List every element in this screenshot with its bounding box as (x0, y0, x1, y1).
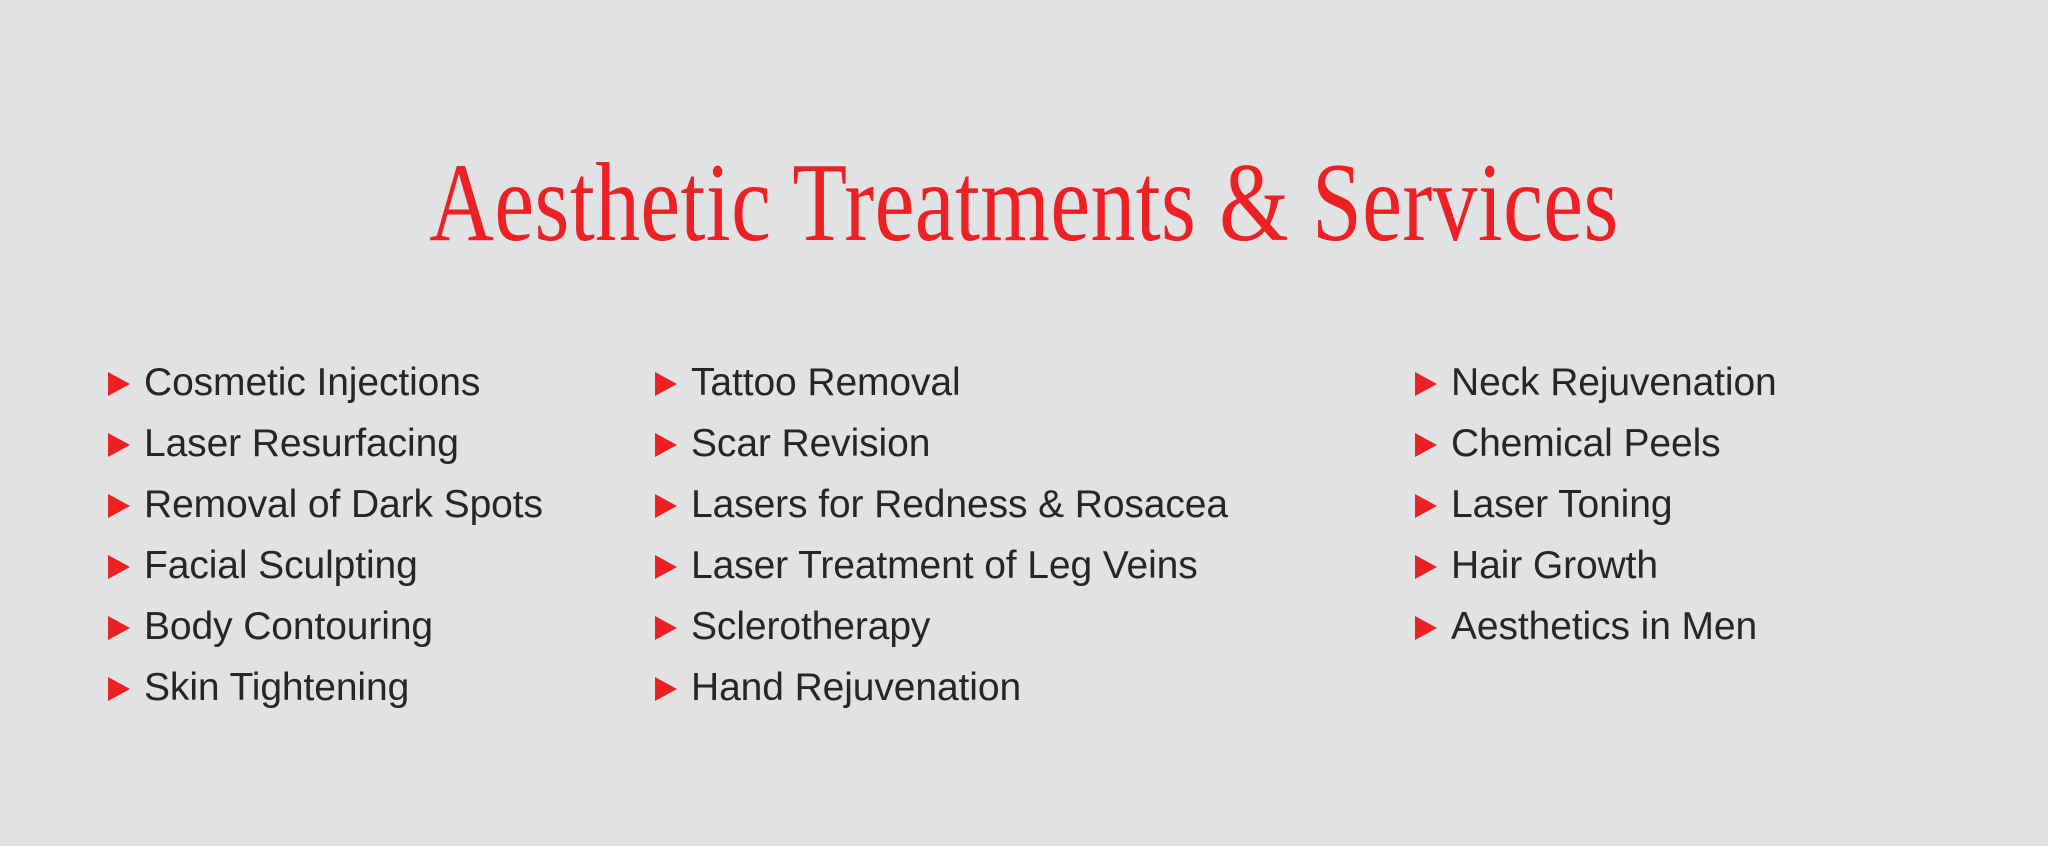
list-item[interactable]: Facial Sculpting (108, 535, 650, 596)
list-item[interactable]: Hair Growth (1415, 535, 2048, 596)
services-column-2: Tattoo Removal Scar Revision Lasers for … (650, 352, 1415, 718)
triangle-right-icon (655, 371, 677, 397)
list-item[interactable]: Removal of Dark Spots (108, 474, 650, 535)
list-item-label: Removal of Dark Spots (144, 485, 543, 524)
list-item-label: Tattoo Removal (691, 363, 961, 402)
list-item[interactable]: Laser Resurfacing (108, 413, 650, 474)
list-item[interactable]: Cosmetic Injections (108, 352, 650, 413)
list-item-label: Aesthetics in Men (1451, 607, 1757, 646)
services-columns: Cosmetic Injections Laser Resurfacing Re… (0, 352, 2048, 718)
triangle-right-icon (108, 554, 130, 580)
slide-root: Aesthetic Treatments & Services Cosmetic… (0, 0, 2048, 846)
list-item-label: Hand Rejuvenation (691, 668, 1021, 707)
services-column-1: Cosmetic Injections Laser Resurfacing Re… (0, 352, 650, 718)
triangle-right-icon (1415, 371, 1437, 397)
list-item[interactable]: Aesthetics in Men (1415, 596, 2048, 657)
triangle-right-icon (655, 615, 677, 641)
list-item[interactable]: Skin Tightening (108, 657, 650, 718)
list-item[interactable]: Laser Treatment of Leg Veins (655, 535, 1415, 596)
list-item-label: Cosmetic Injections (144, 363, 480, 402)
list-item-label: Laser Resurfacing (144, 424, 459, 463)
list-item[interactable]: Body Contouring (108, 596, 650, 657)
triangle-right-icon (655, 676, 677, 702)
triangle-right-icon (655, 493, 677, 519)
services-list-3: Neck Rejuvenation Chemical Peels Laser T… (1415, 352, 2048, 657)
list-item[interactable]: Tattoo Removal (655, 352, 1415, 413)
list-item-label: Hair Growth (1451, 546, 1658, 585)
list-item[interactable]: Lasers for Redness & Rosacea (655, 474, 1415, 535)
triangle-right-icon (108, 493, 130, 519)
triangle-right-icon (108, 371, 130, 397)
triangle-right-icon (1415, 615, 1437, 641)
triangle-right-icon (108, 615, 130, 641)
list-item[interactable]: Neck Rejuvenation (1415, 352, 2048, 413)
list-item-label: Scar Revision (691, 424, 930, 463)
triangle-right-icon (1415, 554, 1437, 580)
triangle-right-icon (655, 554, 677, 580)
list-item[interactable]: Laser Toning (1415, 474, 2048, 535)
triangle-right-icon (108, 676, 130, 702)
page-title: Aesthetic Treatments & Services (205, 147, 1843, 259)
list-item-label: Laser Treatment of Leg Veins (691, 546, 1198, 585)
list-item-label: Sclerotherapy (691, 607, 930, 646)
list-item-label: Chemical Peels (1451, 424, 1721, 463)
triangle-right-icon (1415, 493, 1437, 519)
services-column-3: Neck Rejuvenation Chemical Peels Laser T… (1415, 352, 2048, 657)
list-item-label: Laser Toning (1451, 485, 1672, 524)
services-list-2: Tattoo Removal Scar Revision Lasers for … (655, 352, 1415, 718)
triangle-right-icon (655, 432, 677, 458)
list-item[interactable]: Chemical Peels (1415, 413, 2048, 474)
triangle-right-icon (108, 432, 130, 458)
list-item[interactable]: Scar Revision (655, 413, 1415, 474)
list-item-label: Lasers for Redness & Rosacea (691, 485, 1228, 524)
list-item[interactable]: Hand Rejuvenation (655, 657, 1415, 718)
list-item-label: Body Contouring (144, 607, 433, 646)
services-list-1: Cosmetic Injections Laser Resurfacing Re… (108, 352, 650, 718)
list-item-label: Neck Rejuvenation (1451, 363, 1777, 402)
list-item[interactable]: Sclerotherapy (655, 596, 1415, 657)
list-item-label: Skin Tightening (144, 668, 409, 707)
list-item-label: Facial Sculpting (144, 546, 418, 585)
triangle-right-icon (1415, 432, 1437, 458)
